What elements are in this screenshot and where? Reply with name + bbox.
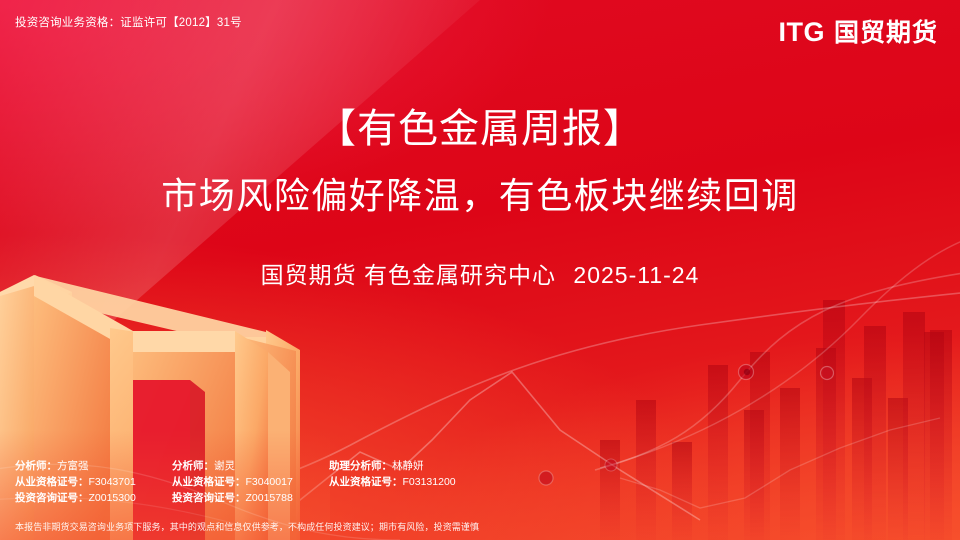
- analyst-field-value: F3043701: [89, 476, 136, 488]
- analyst-credentials: 分析师：方富强从业资格证号：F3043701投资咨询证号：Z0015300分析师…: [15, 459, 456, 507]
- analyst-field-label: 从业资格证号：: [15, 476, 89, 488]
- report-byline: 国贸期货 有色金属研究中心 2025-11-24: [0, 256, 960, 290]
- analyst-field-label: 分析师：: [172, 460, 214, 472]
- analyst-field: 从业资格证号：F3043701: [15, 475, 172, 491]
- report-cover-slide: 投资咨询业务资格：证监许可【2012】31号 ITG 国贸期货 【有色金属周报】…: [0, 0, 960, 540]
- logo-chinese-text: 国贸期货: [834, 21, 938, 46]
- decorative-bar-chart: [600, 300, 952, 540]
- itg-logo: ITG 国贸期货: [778, 19, 938, 46]
- hero-block: 【有色金属周报】 市场风险偏好降温，有色板块继续回调 国贸期货 有色金属研究中心…: [0, 104, 960, 290]
- byline-date: 2025-11-24: [573, 262, 699, 288]
- analyst-field-label: 分析师：: [15, 460, 57, 472]
- analyst-field-label: 投资咨询证号：: [172, 492, 246, 504]
- report-subtitle: 市场风险偏好降温，有色板块继续回调: [0, 173, 960, 220]
- analyst-column: 分析师：谢灵从业资格证号：F3040017投资咨询证号：Z0015788: [172, 459, 329, 507]
- analyst-field-value: F3040017: [246, 476, 293, 488]
- analyst-field: 从业资格证号：F03131200: [329, 475, 456, 491]
- byline-organization: 国贸期货 有色金属研究中心: [261, 262, 556, 288]
- analyst-field-label: 助理分析师：: [329, 460, 392, 472]
- analyst-field-value: 方富强: [57, 460, 89, 472]
- analyst-field-label: 从业资格证号：: [172, 476, 246, 488]
- report-title: 【有色金属周报】: [0, 104, 960, 155]
- analyst-field-value: Z0015300: [89, 492, 136, 504]
- analyst-field: 从业资格证号：F3040017: [172, 475, 329, 491]
- analyst-field: 分析师：谢灵: [172, 459, 329, 475]
- analyst-field: 投资咨询证号：Z0015788: [172, 491, 329, 507]
- analyst-field: 分析师：方富强: [15, 459, 172, 475]
- analyst-field: 助理分析师：林静妍: [329, 459, 456, 475]
- qualification-statement: 投资咨询业务资格：证监许可【2012】31号: [15, 14, 242, 30]
- analyst-field-value: F03131200: [403, 476, 456, 488]
- analyst-column: 分析师：方富强从业资格证号：F3043701投资咨询证号：Z0015300: [15, 459, 172, 507]
- disclaimer-text: 本报告非期货交易咨询业务项下服务，其中的观点和信息仅供参考，不构成任何投资建议；…: [15, 520, 479, 533]
- analyst-field-label: 从业资格证号：: [329, 476, 403, 488]
- logo-latin-text: ITG: [778, 19, 825, 46]
- analyst-field-label: 投资咨询证号：: [15, 492, 89, 504]
- analyst-column: 助理分析师：林静妍从业资格证号：F03131200: [329, 459, 456, 491]
- analyst-field: 投资咨询证号：Z0015300: [15, 491, 172, 507]
- analyst-field-value: 谢灵: [214, 460, 235, 472]
- analyst-field-value: 林静妍: [392, 460, 424, 472]
- analyst-field-value: Z0015788: [246, 492, 293, 504]
